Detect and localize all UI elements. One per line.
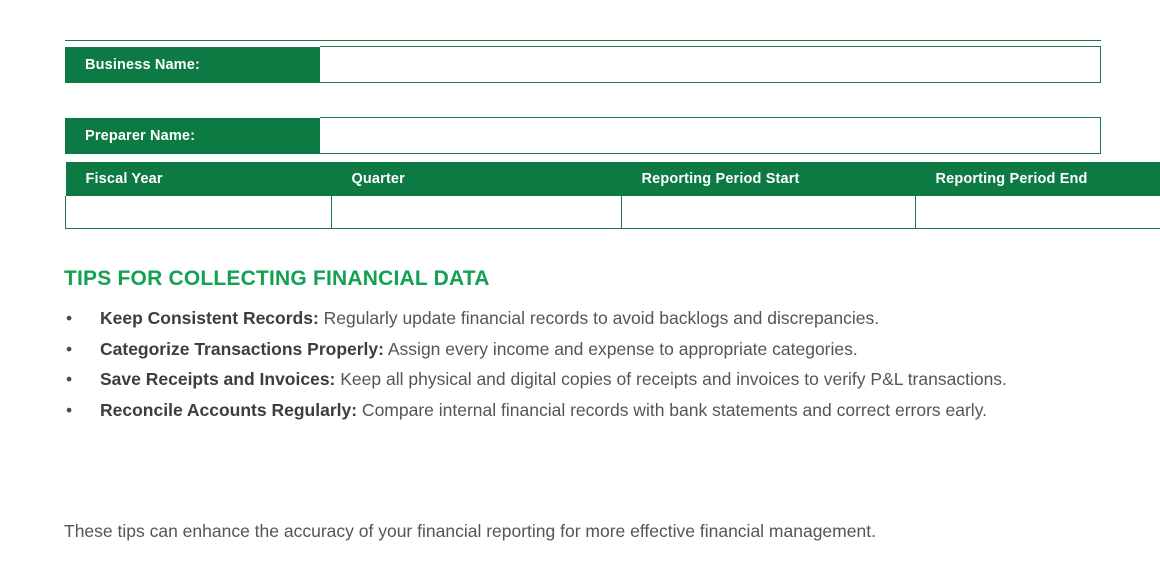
tip-term: Categorize Transactions Properly:: [100, 339, 384, 359]
row-spacer: [65, 83, 1101, 118]
tip-term: Save Receipts and Invoices:: [100, 369, 335, 389]
tip-term: Keep Consistent Records:: [100, 308, 319, 328]
list-item: • Categorize Transactions Properly: Assi…: [64, 334, 1094, 365]
row-spacer-cell-left: [65, 83, 320, 118]
reporting-period-end-input[interactable]: [916, 196, 1160, 229]
tip-body: Assign every income and expense to appro…: [384, 339, 858, 359]
tip-body: Regularly update financial records to av…: [319, 308, 879, 328]
quarter-input[interactable]: [332, 196, 622, 229]
list-item: • Save Receipts and Invoices: Keep all p…: [64, 364, 1094, 395]
table-row: Business Name:: [65, 47, 1101, 83]
document-page: Business Name: Preparer Name: Fiscal Yea…: [0, 0, 1160, 561]
bullet-icon: •: [66, 334, 72, 365]
bullet-icon: •: [66, 303, 72, 334]
preparer-name-input[interactable]: [320, 118, 1101, 154]
reporting-period-start-input[interactable]: [622, 196, 916, 229]
bullet-icon: •: [66, 395, 72, 426]
tips-closing-paragraph: These tips can enhance the accuracy of y…: [64, 516, 1104, 546]
business-name-label: Business Name:: [65, 47, 320, 83]
tips-section-heading: TIPS FOR COLLECTING FINANCIAL DATA: [64, 267, 490, 291]
table-row: [66, 196, 1160, 229]
column-header-fiscal-year: Fiscal Year: [66, 162, 332, 196]
column-header-quarter: Quarter: [332, 162, 622, 196]
list-item: • Keep Consistent Records: Regularly upd…: [64, 303, 1094, 334]
tip-body: Keep all physical and digital copies of …: [335, 369, 1007, 389]
preparer-name-label: Preparer Name:: [65, 118, 320, 154]
reporting-period-table: Fiscal Year Quarter Reporting Period Sta…: [65, 162, 1160, 229]
table-row: Preparer Name:: [65, 118, 1101, 154]
tip-body: Compare internal financial records with …: [357, 400, 987, 420]
bullet-icon: •: [66, 364, 72, 395]
tips-list: • Keep Consistent Records: Regularly upd…: [64, 303, 1094, 425]
row-spacer-cell-right: [320, 83, 1101, 118]
column-header-reporting-period-end: Reporting Period End: [916, 162, 1160, 196]
business-name-input[interactable]: [320, 47, 1101, 83]
top-divider-rule: [65, 40, 1101, 41]
business-info-table: Business Name: Preparer Name:: [65, 46, 1101, 154]
tip-term: Reconcile Accounts Regularly:: [100, 400, 357, 420]
column-header-reporting-period-start: Reporting Period Start: [622, 162, 916, 196]
fiscal-year-input[interactable]: [66, 196, 332, 229]
list-item: • Reconcile Accounts Regularly: Compare …: [64, 395, 1094, 426]
table-header-row: Fiscal Year Quarter Reporting Period Sta…: [66, 162, 1160, 196]
